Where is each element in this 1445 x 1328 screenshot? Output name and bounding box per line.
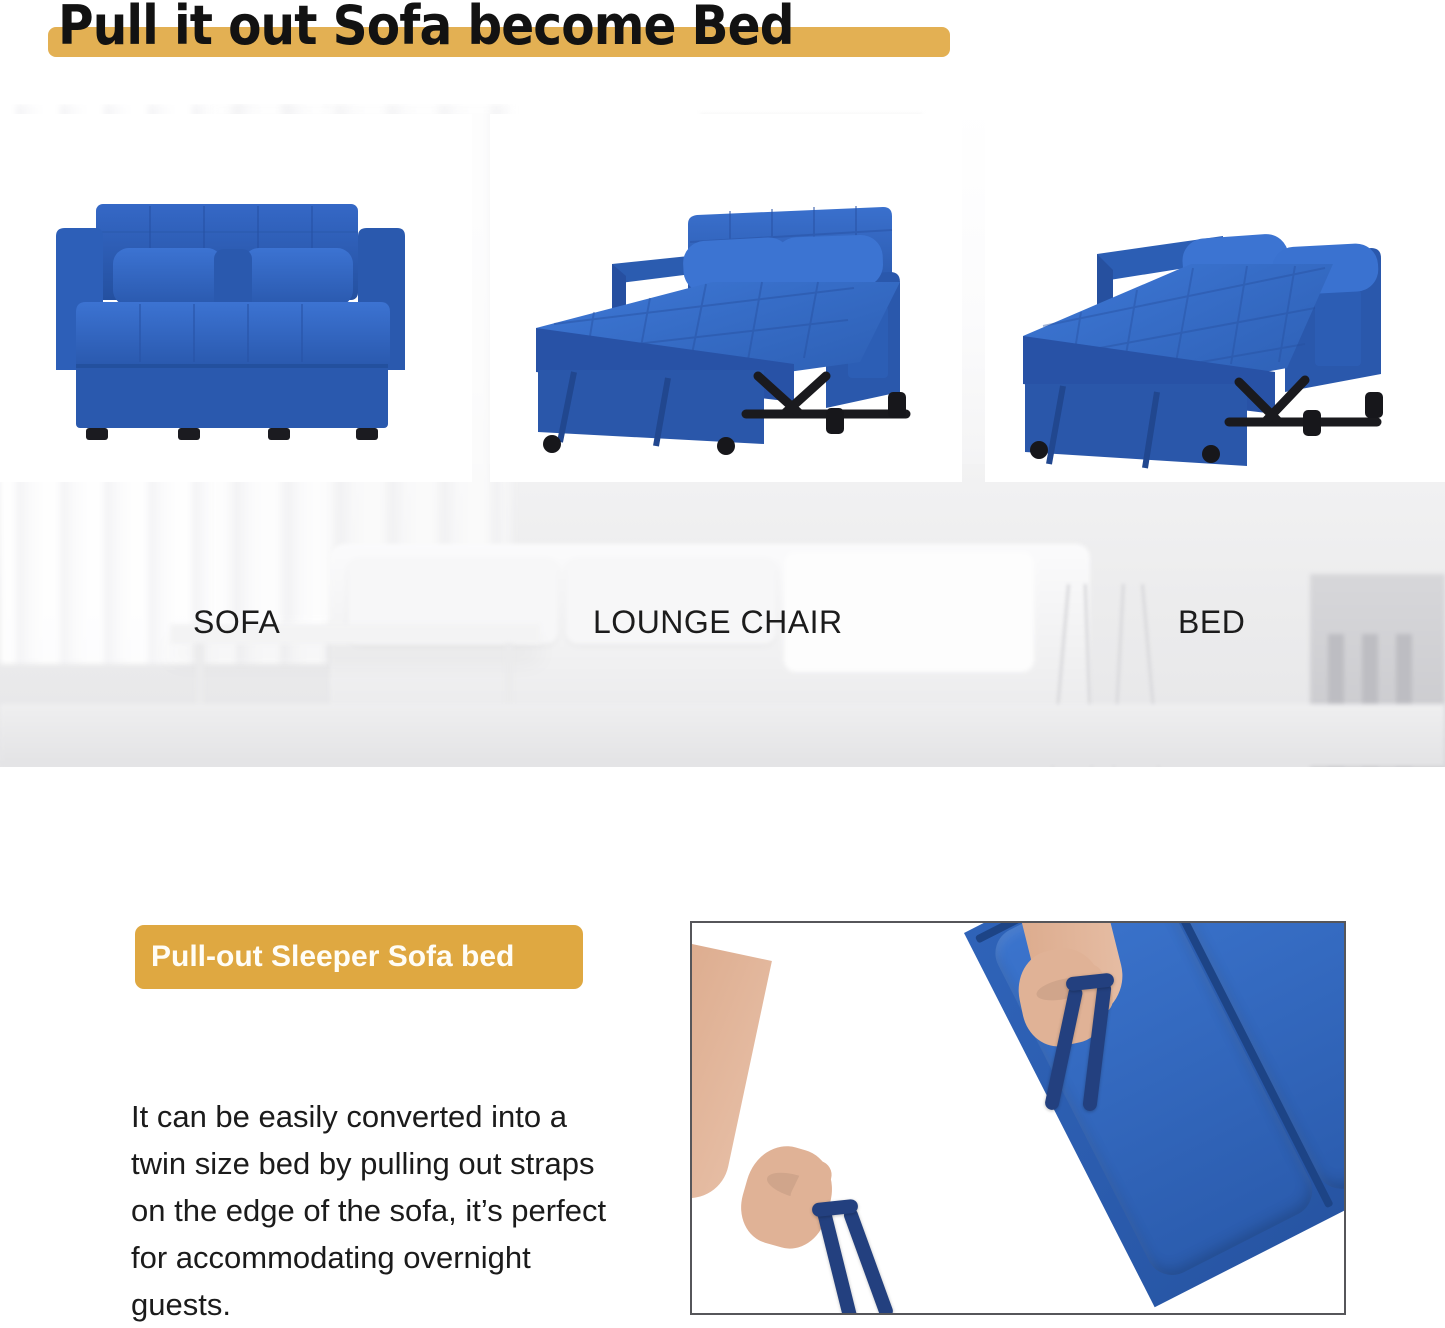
mode-label-lounge-chair: LOUNGE CHAIR — [593, 604, 843, 641]
mode-card-row — [0, 114, 1445, 586]
sofa-icon — [0, 114, 472, 482]
mode-card-bed[interactable] — [985, 114, 1445, 482]
feature-badge: Pull-out Sleeper Sofa bed — [135, 925, 583, 989]
room-floor — [0, 704, 1445, 767]
bed-icon — [985, 114, 1445, 482]
feature-description: It can be easily converted into a twin s… — [131, 1093, 611, 1328]
page-title: Pull it out Sofa become Bed — [58, 0, 958, 57]
lounge-chair-icon — [490, 114, 962, 482]
mode-label-row: SOFA LOUNGE CHAIR BED — [0, 604, 1445, 660]
mode-label-bed: BED — [1178, 604, 1245, 641]
photo-canvas — [692, 923, 1344, 1313]
mode-label-sofa: SOFA — [193, 604, 280, 641]
mode-card-lounge-chair[interactable] — [490, 114, 962, 482]
page-header: Pull it out Sofa become Bed — [0, 0, 1445, 104]
feature-photo — [690, 921, 1346, 1315]
feature-badge-label: Pull-out Sleeper Sofa bed — [151, 925, 514, 989]
mode-card-sofa[interactable] — [0, 114, 472, 482]
